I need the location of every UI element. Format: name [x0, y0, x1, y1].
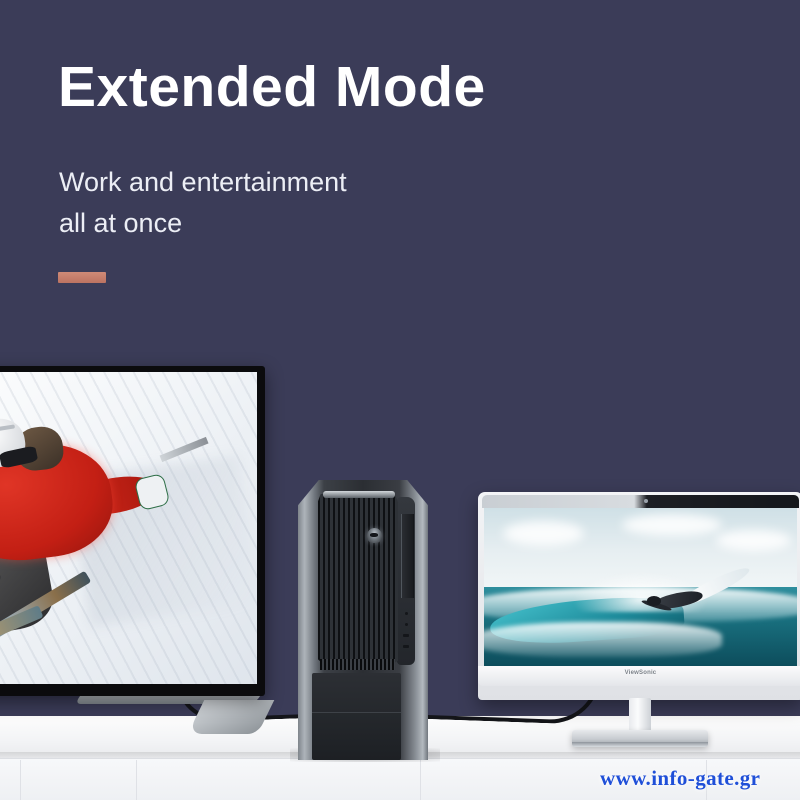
monitor-stand-base-lip: [572, 742, 708, 747]
tv-screen: [0, 372, 257, 684]
viewsonic-monitor: ViewSonic: [478, 492, 800, 700]
usb-port-icon: [403, 634, 409, 637]
ski-pole-right: [159, 437, 208, 462]
cloud: [716, 530, 791, 551]
surfer-head: [647, 596, 661, 605]
accent-bar: [58, 272, 106, 283]
usb-port-icon: [403, 645, 409, 648]
audio-port-icon: [405, 623, 408, 626]
tower-top-handle: [323, 491, 396, 498]
flat-screen-tv: [0, 366, 265, 696]
monitor-brand-label: ViewSonic: [625, 670, 657, 676]
drawer-seam: [136, 760, 137, 800]
monitor-screen: [484, 508, 797, 666]
tower-front-grille: [318, 494, 399, 668]
webcam-icon: [644, 499, 648, 503]
optical-drive-slot: [401, 514, 415, 598]
alien-head-icon[interactable]: [367, 528, 382, 543]
monitor-chin: [478, 666, 800, 686]
gaming-desktop-tower: [298, 480, 428, 760]
usb-port-icon: [405, 612, 408, 615]
skier-glove-right: [134, 472, 171, 510]
watermark: www.info-gate.gr: [600, 766, 760, 791]
tower-panel-seam: [312, 712, 400, 713]
skier-figure: [0, 403, 209, 671]
wave-foam: [484, 622, 722, 657]
drawer-seam: [420, 760, 421, 800]
drawer-seam: [20, 760, 21, 800]
monitor-top-bezel: [482, 495, 799, 508]
monitor-stand-neck: [629, 698, 651, 734]
page-subtitle: Work and entertainment all at once: [59, 162, 347, 244]
tower-lower-panel: [312, 673, 400, 760]
promo-banner: Extended Mode Work and entertainment all…: [0, 0, 800, 800]
cloud: [503, 521, 584, 546]
tower-vents: [320, 659, 395, 670]
page-title: Extended Mode: [58, 58, 486, 118]
